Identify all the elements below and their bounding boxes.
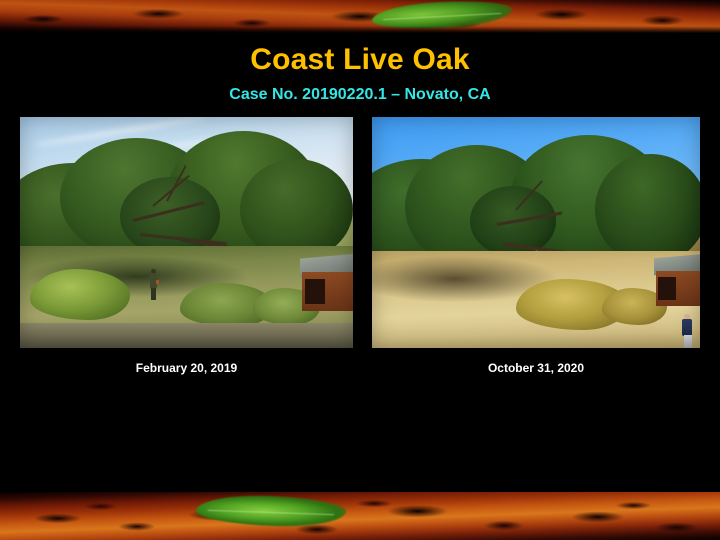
- photo-caption-after: October 31, 2020: [372, 361, 700, 375]
- person-legs: [151, 288, 156, 300]
- oak-canopy-mass: [595, 154, 700, 265]
- photo-after[interactable]: [372, 117, 700, 348]
- shed-opening: [658, 277, 676, 300]
- person-for-scale: [682, 314, 693, 348]
- wooden-shed: [300, 256, 353, 311]
- person-hand: [156, 280, 159, 284]
- presentation-slide: Coast Live Oak Case No. 20190220.1 – Nov…: [0, 0, 720, 540]
- understory-shrub: [30, 269, 130, 320]
- wooden-shed: [654, 256, 700, 307]
- bottom-decorative-border: [0, 492, 720, 540]
- shed-opening: [305, 279, 325, 305]
- person-legs: [684, 335, 692, 348]
- photo-before[interactable]: [20, 117, 353, 348]
- page-title: Coast Live Oak: [0, 43, 720, 77]
- photo-caption-before: February 20, 2019: [20, 361, 353, 375]
- marble-texture-bottom: [0, 492, 720, 540]
- page-subtitle: Case No. 20190220.1 – Novato, CA: [0, 86, 720, 104]
- person-for-scale: [150, 269, 158, 299]
- top-border-fade: [0, 26, 720, 33]
- foreground-path: [20, 323, 353, 348]
- leaf-vein: [208, 509, 334, 514]
- oak-canopy-mass: [240, 159, 353, 261]
- leaf-vein: [383, 12, 501, 19]
- person-torso: [682, 319, 692, 336]
